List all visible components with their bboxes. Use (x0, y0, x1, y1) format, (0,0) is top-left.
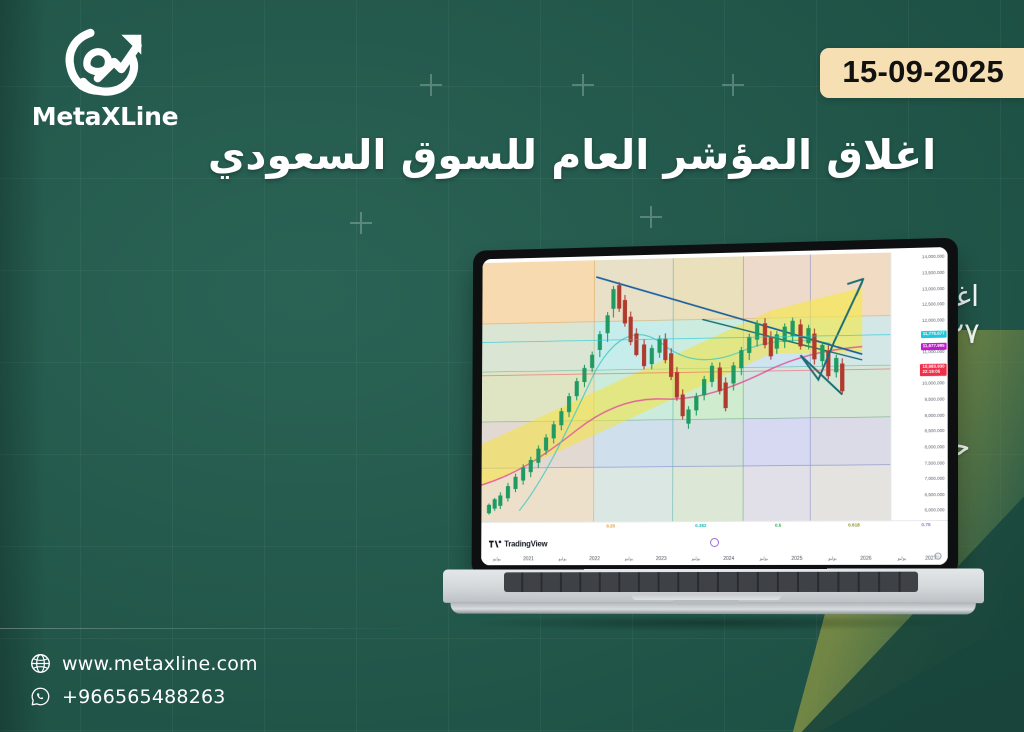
x-tick: يوليو (493, 557, 501, 562)
price-tag-last[interactable]: 10,983.930 22:19:05 (920, 364, 946, 376)
y-tick: 7,000.000 (925, 476, 945, 481)
tradingview-logo[interactable]: TradingView (489, 540, 547, 549)
footer-whatsapp-text: +966565488263 (62, 686, 226, 708)
y-tick: 14,000.000 (922, 254, 945, 260)
y-tick: 9,000.000 (925, 412, 945, 417)
y-tick: 12,500.000 (922, 301, 945, 307)
laptop-base (443, 568, 984, 619)
y-tick: 8,000.000 (925, 444, 945, 449)
y-tick: 6,500.000 (925, 492, 945, 497)
tradingview-mark-icon (489, 540, 501, 549)
last-price-countdown: 22:19:05 (922, 369, 940, 374)
laptop-drop-shadow (475, 615, 945, 631)
x-tick: 2023 (656, 556, 667, 562)
fib-label: 0.5 (775, 523, 781, 528)
laptop-screen: 14,000.000 13,500.000 13,000.000 12,500.… (481, 247, 948, 565)
price-tag-upper[interactable]: 11,775.677 (921, 331, 947, 339)
x-tick: 2021 (523, 556, 534, 562)
chart-plot-area[interactable] (481, 253, 890, 523)
fib-label: 0.75 (921, 522, 930, 527)
x-tick: 2024 (723, 556, 734, 562)
x-tick: يوليو (625, 557, 633, 562)
x-tick: 2026 (860, 556, 871, 562)
fib-label: 0.382 (695, 523, 706, 528)
globe-icon (30, 653, 51, 674)
laptop-lid: 14,000.000 13,500.000 13,000.000 12,500.… (472, 238, 959, 576)
x-tick: يوليو (828, 557, 837, 562)
x-tick: يوليو (760, 557, 768, 562)
footer-website-text: www.metaxline.com (62, 653, 258, 675)
price-tag-mid[interactable]: 11,677.995 (921, 343, 947, 351)
laptop-mockup: 14,000.000 13,500.000 13,000.000 12,500.… (435, 243, 980, 638)
x-tick: يوليو (898, 557, 907, 562)
footer-contact: www.metaxline.com +966565488263 (30, 650, 258, 716)
fib-label: 0.618 (848, 522, 860, 527)
reset-chart-icon[interactable]: ◎ (934, 553, 941, 560)
circular-arrow-growth-icon (59, 22, 151, 100)
poster-canvas: MetaXLine 15-09-2025 اغلاق المؤشر العام … (0, 0, 1024, 732)
chart-time-axis[interactable]: 0.25 0.382 0.5 0.618 0.75 TradingView (481, 520, 948, 565)
chart-marker-badge-icon (710, 538, 719, 547)
decor-plus-icon (722, 74, 744, 96)
decor-plus-icon (572, 74, 594, 96)
laptop-front-notch (673, 600, 738, 605)
decor-plus-icon (420, 74, 442, 96)
y-tick: 7,500.000 (925, 460, 945, 465)
y-tick: 13,000.000 (922, 286, 945, 292)
footer-whatsapp-row[interactable]: +966565488263 (30, 683, 258, 710)
x-tick: يوليو (558, 557, 566, 562)
brand-logo: MetaXLine (30, 22, 180, 131)
x-tick: 2025 (791, 556, 802, 562)
y-tick: 6,000.000 (925, 508, 945, 513)
footer-divider (0, 628, 420, 629)
chart-svg (481, 253, 890, 523)
x-tick: 2022 (589, 556, 600, 562)
y-tick: 12,000.000 (922, 317, 945, 323)
date-badge: 15-09-2025 (820, 48, 1024, 98)
brand-wordmark: MetaXLine (30, 102, 180, 131)
whatsapp-icon (30, 686, 51, 707)
decor-plus-icon (640, 206, 662, 228)
y-tick: 8,500.000 (925, 428, 945, 433)
footer-website-row[interactable]: www.metaxline.com (30, 650, 258, 677)
y-tick: 13,500.000 (922, 270, 945, 276)
y-tick: 9,500.000 (925, 397, 945, 402)
laptop-keyboard (504, 572, 918, 592)
x-tick: يوليو (692, 557, 700, 562)
tradingview-label: TradingView (504, 540, 547, 549)
decor-plus-icon (350, 212, 372, 234)
y-tick: 10,000.000 (922, 381, 945, 386)
page-title: اغلاق المؤشر العام للسوق السعودي (142, 128, 1002, 182)
laptop-deck (443, 568, 984, 603)
tradingview-chart[interactable]: 14,000.000 13,500.000 13,000.000 12,500.… (481, 247, 948, 565)
fib-label: 0.25 (606, 523, 615, 528)
chart-price-axis[interactable]: 14,000.000 13,500.000 13,000.000 12,500.… (890, 251, 947, 520)
